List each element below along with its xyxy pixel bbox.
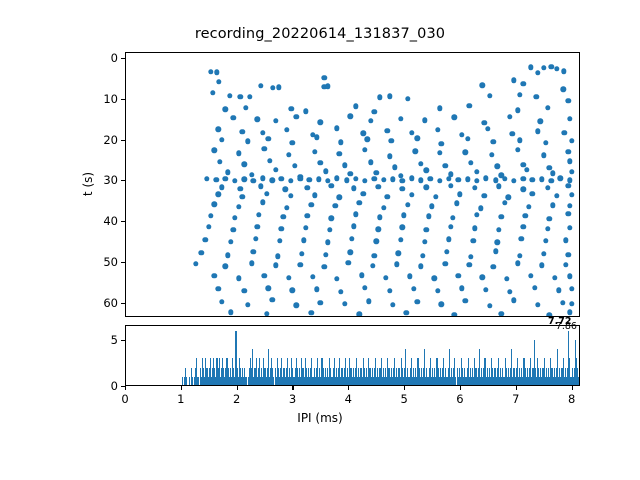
raster-y-tick <box>121 58 125 59</box>
scatter-point <box>474 178 479 183</box>
scatter-point <box>323 252 328 257</box>
scatter-point <box>415 299 420 304</box>
scatter-point <box>549 178 554 183</box>
scatter-point <box>528 273 533 278</box>
scatter-point <box>535 302 540 307</box>
scatter-point <box>270 297 275 302</box>
scatter-point <box>349 236 354 241</box>
scatter-point <box>277 238 282 243</box>
scatter-point <box>338 289 343 294</box>
scatter-point <box>359 272 364 277</box>
scatter-point <box>433 194 438 199</box>
scatter-point <box>236 151 241 156</box>
scatter-point <box>489 152 494 157</box>
scatter-point <box>511 178 516 183</box>
raster-y-ticklabel: 10 <box>103 92 118 106</box>
scatter-point <box>439 301 444 306</box>
scatter-point <box>455 273 460 278</box>
x-tick <box>348 386 349 390</box>
scatter-point <box>528 65 533 70</box>
scatter-point <box>418 177 423 182</box>
scatter-point <box>351 224 356 229</box>
scatter-point <box>545 185 550 190</box>
scatter-point <box>424 184 429 189</box>
scatter-point <box>230 227 235 232</box>
raster-y-ticklabel: 20 <box>103 133 118 147</box>
scatter-point <box>294 114 299 119</box>
scatter-point <box>253 236 258 241</box>
scatter-point <box>239 129 244 134</box>
scatter-point <box>565 211 570 216</box>
x-ticklabel: 4 <box>345 392 352 406</box>
scatter-point <box>388 138 393 143</box>
scatter-point <box>443 163 448 168</box>
scatter-point <box>507 289 512 294</box>
scatter-point <box>452 115 457 120</box>
scatter-point <box>558 175 563 180</box>
scatter-point <box>286 275 291 280</box>
scatter-point <box>238 94 243 99</box>
scatter-point <box>439 141 444 146</box>
scatter-point <box>345 260 350 265</box>
scatter-point <box>223 107 228 112</box>
scatter-point <box>316 177 321 182</box>
scatter-point <box>422 118 427 123</box>
scatter-point <box>468 254 473 259</box>
scatter-point <box>357 312 362 316</box>
scatter-point <box>238 186 243 191</box>
x-tick <box>292 386 293 390</box>
scatter-point <box>273 263 278 268</box>
x-tick <box>237 386 238 390</box>
scatter-point <box>487 303 492 308</box>
scatter-point <box>228 239 233 244</box>
scatter-point <box>463 150 468 155</box>
raster-y-ticklabel: 50 <box>103 255 118 269</box>
scatter-point <box>565 183 570 188</box>
scatter-point <box>215 127 220 132</box>
raster-plot-area <box>126 53 579 316</box>
scatter-point <box>260 200 265 205</box>
scatter-point <box>452 312 457 316</box>
scatter-point <box>281 214 286 219</box>
scatter-point <box>534 94 539 99</box>
scatter-point <box>329 183 334 188</box>
scatter-point <box>199 250 204 255</box>
scatter-point <box>493 177 498 182</box>
scatter-point <box>353 212 358 217</box>
scatter-point <box>504 276 509 281</box>
x-ticklabel: 3 <box>289 392 296 406</box>
scatter-point <box>517 92 522 97</box>
x-ticklabel: 7 <box>512 392 519 406</box>
scatter-point <box>394 261 399 266</box>
scatter-point <box>348 171 353 176</box>
scatter-point <box>465 136 470 141</box>
scatter-point <box>318 300 323 305</box>
scatter-point <box>565 149 570 154</box>
scatter-point <box>278 226 283 231</box>
figure: recording_20220614_131837_030 t (s) IPI … <box>0 0 640 480</box>
scatter-point <box>260 175 265 180</box>
scatter-point <box>400 225 405 230</box>
scatter-point <box>314 135 319 140</box>
scatter-point <box>392 164 397 169</box>
raster-y-tick <box>121 140 125 141</box>
scatter-point <box>511 78 516 83</box>
scatter-point <box>294 303 299 308</box>
scatter-point <box>535 70 540 75</box>
raster-y-ticklabel: 40 <box>103 214 118 228</box>
scatter-point <box>412 149 417 154</box>
scatter-point <box>483 175 488 180</box>
scatter-point <box>465 177 470 182</box>
scatter-point <box>376 226 381 231</box>
x-tick <box>125 386 126 390</box>
scatter-point <box>467 103 472 108</box>
scatter-point <box>312 193 317 198</box>
scatter-point <box>337 151 342 156</box>
scatter-point <box>444 249 449 254</box>
scatter-point <box>290 140 295 145</box>
scatter-point <box>325 84 330 89</box>
x-ticklabel: 1 <box>177 392 184 406</box>
scatter-point <box>507 114 512 119</box>
scatter-point <box>517 253 522 258</box>
scatter-point <box>249 172 254 177</box>
scatter-point <box>318 160 323 165</box>
scatter-point <box>563 262 568 267</box>
scatter-point <box>225 170 230 175</box>
scatter-point <box>487 93 492 98</box>
raster-y-tick <box>121 303 125 304</box>
scatter-point <box>290 288 295 293</box>
scatter-point <box>521 176 526 181</box>
scatter-point <box>400 186 405 191</box>
scatter-point <box>409 192 414 197</box>
scatter-point <box>535 129 540 134</box>
raster-y-ticklabel: 0 <box>111 51 118 65</box>
scatter-point <box>569 286 574 291</box>
scatter-point <box>483 287 488 292</box>
scatter-point <box>351 186 356 191</box>
scatter-point <box>565 252 570 257</box>
scatter-point <box>381 205 386 210</box>
scatter-point <box>329 215 334 220</box>
scatter-point <box>479 275 484 280</box>
scatter-point <box>385 128 390 133</box>
scatter-point <box>545 226 550 231</box>
scatter-point <box>569 192 574 197</box>
scatter-point <box>314 287 319 292</box>
scatter-point <box>262 146 267 151</box>
scatter-point <box>472 226 477 231</box>
scatter-point <box>491 139 496 144</box>
scatter-point <box>463 298 468 303</box>
scatter-point <box>210 90 215 95</box>
scatter-point <box>431 276 436 281</box>
scatter-point <box>342 162 347 167</box>
scatter-point <box>398 116 403 121</box>
scatter-point <box>550 171 555 176</box>
scatter-point <box>556 288 561 293</box>
scatter-point <box>387 94 392 99</box>
scatter-point <box>362 285 367 290</box>
x-ticklabel: 5 <box>400 392 407 406</box>
histogram-y-ticklabel: 5 <box>111 333 118 347</box>
scatter-point <box>344 177 349 182</box>
scatter-point <box>348 113 353 118</box>
scatter-point <box>318 120 323 125</box>
scatter-point <box>446 237 451 242</box>
scatter-point <box>478 206 483 211</box>
scatter-point <box>511 298 516 303</box>
scatter-point <box>485 126 490 131</box>
scatter-point <box>545 105 550 110</box>
scatter-point <box>455 177 460 182</box>
scatter-point <box>334 126 339 131</box>
scatter-point <box>515 147 520 152</box>
scatter-point <box>541 153 546 158</box>
scatter-point <box>327 227 332 232</box>
scatter-point <box>303 225 308 230</box>
scatter-point <box>522 213 527 218</box>
scatter-point <box>270 177 275 182</box>
scatter-point <box>362 178 367 183</box>
scatter-point <box>223 264 228 269</box>
scatter-point <box>292 163 297 168</box>
scatter-point <box>567 310 572 315</box>
scatter-point <box>567 116 572 121</box>
x-ticklabel: 8 <box>568 392 575 406</box>
scatter-point <box>254 117 259 122</box>
scatter-point <box>215 286 220 291</box>
scatter-point <box>539 263 544 268</box>
scatter-point <box>515 261 520 266</box>
scatter-point <box>437 178 442 183</box>
scatter-point <box>212 148 217 153</box>
scatter-point <box>215 192 220 197</box>
scatter-point <box>256 212 261 217</box>
scatter-point <box>409 130 414 135</box>
scatter-point <box>288 178 293 183</box>
scatter-point <box>407 274 412 279</box>
scatter-point <box>541 251 546 256</box>
scatter-point <box>517 138 522 143</box>
scatter-point <box>323 169 328 174</box>
scatter-point <box>479 83 484 88</box>
scatter-point <box>396 250 401 255</box>
scatter-point <box>474 212 479 217</box>
scatter-point <box>448 224 453 229</box>
scatter-point <box>333 203 338 208</box>
scatter-point <box>552 275 557 280</box>
scatter-point <box>474 169 479 174</box>
x-ticklabel: 2 <box>233 392 240 406</box>
scatter-point <box>418 161 423 166</box>
scatter-point <box>309 202 314 207</box>
scatter-point <box>242 288 247 293</box>
scatter-point <box>411 286 416 291</box>
scatter-point <box>214 177 219 182</box>
scatter-point <box>266 136 271 141</box>
x-ticklabel: 6 <box>456 392 463 406</box>
scatter-point <box>496 227 501 232</box>
scatter-point <box>230 115 235 120</box>
histogram-peak-annotation: 7.86 <box>556 321 577 332</box>
scatter-point <box>532 285 537 290</box>
scatter-point <box>297 176 302 181</box>
scatter-point <box>524 167 529 172</box>
scatter-point <box>519 236 524 241</box>
histogram-y-ticklabel: 0 <box>111 379 118 393</box>
scatter-point <box>254 224 259 229</box>
scatter-point <box>459 132 464 137</box>
scatter-point <box>409 175 414 180</box>
scatter-point <box>372 176 377 181</box>
scatter-point <box>278 176 283 181</box>
scatter-point <box>428 176 433 181</box>
scatter-point <box>398 237 403 242</box>
scatter-point <box>239 194 244 199</box>
scatter-point <box>405 96 410 101</box>
scatter-point <box>426 214 431 219</box>
scatter-point <box>521 186 526 191</box>
scatter-point <box>554 66 559 71</box>
scatter-point <box>515 108 520 113</box>
scatter-point <box>225 253 230 258</box>
scatter-point <box>242 162 247 167</box>
scatter-point <box>338 140 343 145</box>
scatter-point <box>284 205 289 210</box>
scatter-point <box>495 239 500 244</box>
scatter-point <box>303 109 308 114</box>
scatter-point <box>498 311 503 316</box>
scatter-point <box>260 130 265 135</box>
scatter-point <box>370 263 375 268</box>
y-axis-label: t (s) <box>81 172 95 196</box>
scatter-point <box>401 213 406 218</box>
scatter-point <box>372 253 377 258</box>
scatter-point <box>563 237 568 242</box>
scatter-point <box>390 302 395 307</box>
scatter-point <box>264 311 269 316</box>
scatter-point <box>569 169 574 174</box>
scatter-point <box>366 299 371 304</box>
scatter-point <box>450 215 455 220</box>
scatter-point <box>223 176 228 181</box>
scatter-point <box>321 264 326 269</box>
scatter-point <box>273 118 278 123</box>
scatter-point <box>245 302 250 307</box>
scatter-point <box>390 177 395 182</box>
scatter-point <box>546 216 551 221</box>
scatter-point <box>502 176 507 181</box>
scatter-point <box>546 165 551 170</box>
scatter-point <box>435 288 440 293</box>
scatter-point <box>305 185 310 190</box>
scatter-point <box>459 286 464 291</box>
scatter-point <box>321 75 326 80</box>
x-tick <box>460 386 461 390</box>
scatter-point <box>506 195 511 200</box>
scatter-point <box>457 192 462 197</box>
scatter-point <box>373 239 378 244</box>
raster-y-tick <box>121 180 125 181</box>
scatter-point <box>262 273 267 278</box>
scatter-point <box>385 194 390 199</box>
scatter-point <box>353 104 358 109</box>
raster-y-tick <box>121 221 125 222</box>
scatter-point <box>521 224 526 229</box>
scatter-point <box>364 137 369 142</box>
scatter-point <box>443 261 448 266</box>
scatter-point <box>228 310 233 315</box>
scatter-point <box>567 225 572 230</box>
histogram-panel <box>125 325 580 386</box>
scatter-point <box>282 186 287 191</box>
scatter-point <box>208 213 213 218</box>
x-tick <box>572 386 573 390</box>
scatter-point <box>334 175 339 180</box>
scatter-point <box>288 193 293 198</box>
scatter-point <box>387 153 392 158</box>
scatter-point <box>217 159 222 164</box>
scatter-point <box>400 178 405 183</box>
scatter-point <box>266 286 271 291</box>
scatter-point <box>530 177 535 182</box>
scatter-point <box>362 147 367 152</box>
x-tick <box>181 386 182 390</box>
scatter-point <box>275 254 280 259</box>
scatter-point <box>424 168 429 173</box>
scatter-point <box>312 149 317 154</box>
scatter-point <box>219 184 224 189</box>
x-ticklabel: 0 <box>121 392 128 406</box>
scatter-point <box>373 170 378 175</box>
scatter-point <box>242 177 247 182</box>
scatter-point <box>468 160 473 165</box>
scatter-point <box>310 274 315 279</box>
scatter-point <box>560 87 565 92</box>
scatter-point <box>437 150 442 155</box>
scatter-point <box>435 127 440 132</box>
scatter-point <box>348 250 353 255</box>
scatter-point <box>377 215 382 220</box>
scatter-point <box>541 65 546 70</box>
scatter-point <box>569 301 574 306</box>
scatter-point <box>305 213 310 218</box>
scatter-point <box>567 274 572 279</box>
scatter-point <box>377 95 382 100</box>
scatter-point <box>236 276 241 281</box>
scatter-point <box>530 191 535 196</box>
scatter-point <box>337 195 342 200</box>
x-tick <box>404 386 405 390</box>
scatter-point <box>429 204 434 209</box>
raster-y-tick <box>121 262 125 263</box>
scatter-point <box>206 224 211 229</box>
scatter-point <box>526 204 531 209</box>
x-axis-label: IPI (ms) <box>0 411 640 425</box>
scatter-point <box>297 262 302 267</box>
raster-y-ticklabel: 30 <box>103 173 118 187</box>
scatter-point <box>368 118 373 123</box>
scatter-point <box>342 301 347 306</box>
scatter-point <box>276 85 281 90</box>
scatter-point <box>216 79 221 84</box>
scatter-point <box>243 105 248 110</box>
